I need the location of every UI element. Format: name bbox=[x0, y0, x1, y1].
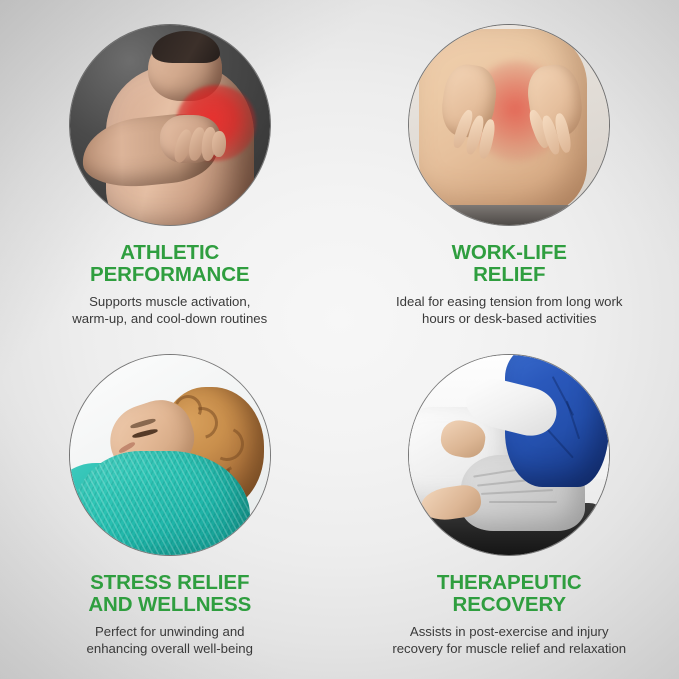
lower-back-pain-photo bbox=[409, 25, 609, 225]
feature-image-wrap-2 bbox=[409, 25, 609, 225]
feature-card-athletic-performance: ATHLETIC PERFORMANCE Supports muscle act… bbox=[0, 0, 340, 340]
feature-description: Assists in post-exercise and injury reco… bbox=[392, 623, 626, 657]
feature-grid: ATHLETIC PERFORMANCE Supports muscle act… bbox=[0, 0, 679, 679]
feature-poster: ATHLETIC PERFORMANCE Supports muscle act… bbox=[0, 0, 679, 679]
feature-description: Ideal for easing tension from long work … bbox=[396, 293, 623, 327]
feature-heading: THERAPEUTIC RECOVERY bbox=[437, 572, 582, 616]
relaxation-photo-scene bbox=[70, 355, 270, 555]
athlete-finger-shape bbox=[211, 131, 226, 157]
back-pain-photo-scene bbox=[409, 25, 609, 225]
feature-description: Perfect for unwinding and enhancing over… bbox=[87, 623, 253, 657]
feature-image-wrap-1 bbox=[70, 25, 270, 225]
feature-description: Supports muscle activation, warm-up, and… bbox=[72, 293, 267, 327]
feature-image-wrap-4 bbox=[409, 355, 609, 555]
therapy-photo-scene bbox=[409, 355, 609, 555]
floor-shadow bbox=[409, 205, 609, 225]
feature-image-wrap-3 bbox=[70, 355, 270, 555]
athlete-hair-shape bbox=[152, 31, 220, 63]
feature-card-stress-relief-and-wellness: STRESS RELIEF AND WELLNESS Perfect for u… bbox=[0, 340, 340, 679]
feature-card-work-life-relief: WORK-LIFE RELIEF Ideal for easing tensio… bbox=[340, 0, 679, 340]
feature-heading: STRESS RELIEF AND WELLNESS bbox=[88, 572, 251, 616]
fabric-fold bbox=[489, 501, 557, 503]
relaxing-woman-photo bbox=[70, 355, 270, 555]
feature-heading: ATHLETIC PERFORMANCE bbox=[90, 242, 250, 286]
athlete-shoulder-pain-photo bbox=[70, 25, 270, 225]
physical-therapy-session-photo bbox=[409, 355, 609, 555]
feature-card-therapeutic-recovery: THERAPEUTIC RECOVERY Assists in post-exe… bbox=[340, 340, 679, 679]
athlete-photo-scene bbox=[70, 25, 270, 225]
feature-heading: WORK-LIFE RELIEF bbox=[452, 242, 567, 286]
